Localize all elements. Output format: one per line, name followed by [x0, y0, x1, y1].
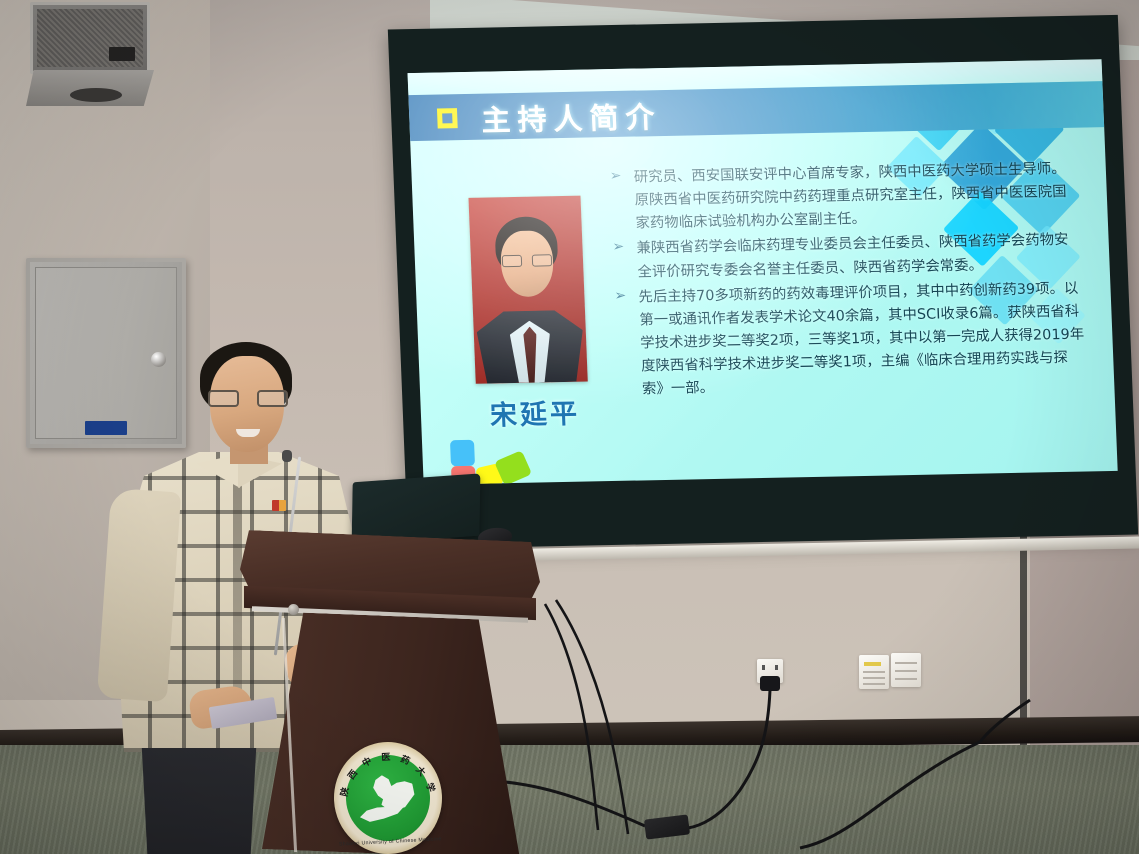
- floor-cable-right-2: [980, 700, 1030, 742]
- glasses-icon: [208, 390, 288, 407]
- podium-cable-2: [556, 600, 628, 834]
- emblem-char: 学: [423, 781, 438, 794]
- university-emblem: 陕西中医药大学 Shaanxi University of Chinese Me…: [331, 739, 445, 854]
- emblem-char: 大: [413, 763, 429, 778]
- outlet-cable: [688, 690, 770, 828]
- presenter-trousers: [134, 748, 264, 854]
- emblem-char: 医: [381, 750, 391, 763]
- lapel-badge: [272, 500, 286, 511]
- emblem-char: 药: [398, 752, 411, 767]
- laptop[interactable]: [352, 473, 481, 544]
- emblem-char: 中: [360, 754, 374, 770]
- floor-cable-right: [800, 742, 980, 848]
- presenter-left-arm: [97, 488, 181, 702]
- podium-knob-icon: [288, 604, 299, 615]
- emblem-char: 陕: [337, 786, 352, 798]
- lecture-room-photo: 主持人简介 宋延平: [0, 0, 1139, 854]
- emblem-char: 西: [344, 767, 360, 782]
- shirt-placket: [233, 458, 242, 708]
- microphone-head: [282, 450, 292, 462]
